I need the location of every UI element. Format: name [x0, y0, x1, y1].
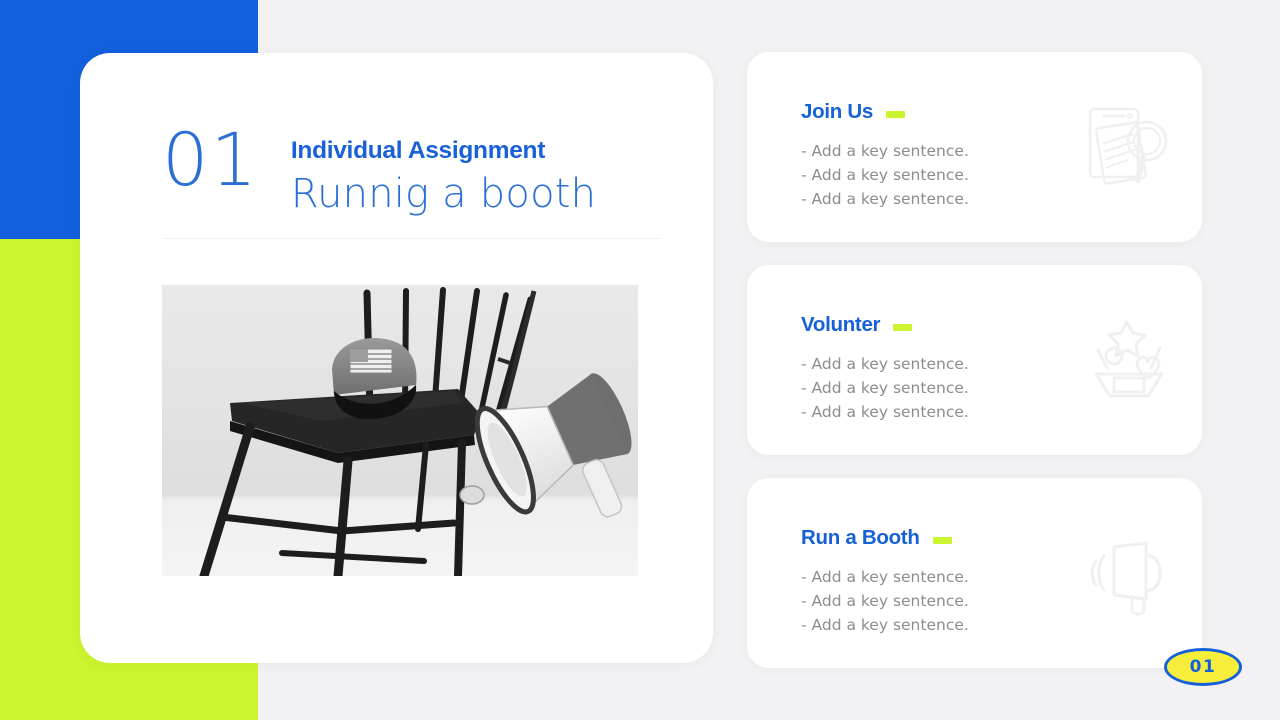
title-row: 01 Individual Assignment Runnig a booth: [162, 126, 596, 221]
main-content-card: 01 Individual Assignment Runnig a booth: [80, 53, 713, 663]
info-cards-column: Join Us - Add a key sentence. - Add a ke…: [747, 52, 1202, 691]
card-title: Join Us: [801, 100, 873, 124]
card-header: Run a Booth: [801, 526, 952, 550]
megaphone-icon: [1080, 529, 1176, 617]
list-item: - Add a key sentence.: [801, 613, 969, 637]
title-dash-icon: [933, 537, 952, 544]
info-card-volunter[interactable]: Volunter - Add a key sentence. - Add a k…: [747, 265, 1202, 455]
eyebrow-label: Individual Assignment: [291, 138, 596, 165]
list-item: - Add a key sentence.: [801, 187, 969, 211]
list-item: - Add a key sentence.: [801, 565, 969, 589]
list-item: - Add a key sentence.: [801, 352, 969, 376]
page-number-badge: 01: [1164, 648, 1242, 686]
list-item: - Add a key sentence.: [801, 139, 969, 163]
list-item: - Add a key sentence.: [801, 400, 969, 424]
card-bullet-list: - Add a key sentence. - Add a key senten…: [801, 565, 969, 637]
slide-number: 01: [162, 126, 259, 197]
title-text-group: Individual Assignment Runnig a booth: [291, 126, 596, 221]
slide-photo: [162, 285, 638, 576]
list-item: - Add a key sentence.: [801, 163, 969, 187]
info-card-join-us[interactable]: Join Us - Add a key sentence. - Add a ke…: [747, 52, 1202, 242]
card-title: Volunter: [801, 313, 880, 337]
donation-box-icon: [1080, 316, 1176, 404]
title-divider: [162, 238, 662, 239]
page-number-label: 01: [1190, 657, 1217, 677]
card-title: Run a Booth: [801, 526, 920, 550]
card-header: Volunter: [801, 313, 912, 337]
document-magnifier-icon: [1080, 103, 1176, 191]
list-item: - Add a key sentence.: [801, 376, 969, 400]
info-card-run-a-booth[interactable]: Run a Booth - Add a key sentence. - Add …: [747, 478, 1202, 668]
title-dash-icon: [886, 111, 905, 118]
title-dash-icon: [893, 324, 912, 331]
card-bullet-list: - Add a key sentence. - Add a key senten…: [801, 352, 969, 424]
card-bullet-list: - Add a key sentence. - Add a key senten…: [801, 139, 969, 211]
list-item: - Add a key sentence.: [801, 589, 969, 613]
card-header: Join Us: [801, 100, 905, 124]
page-title: Runnig a booth: [291, 167, 596, 221]
